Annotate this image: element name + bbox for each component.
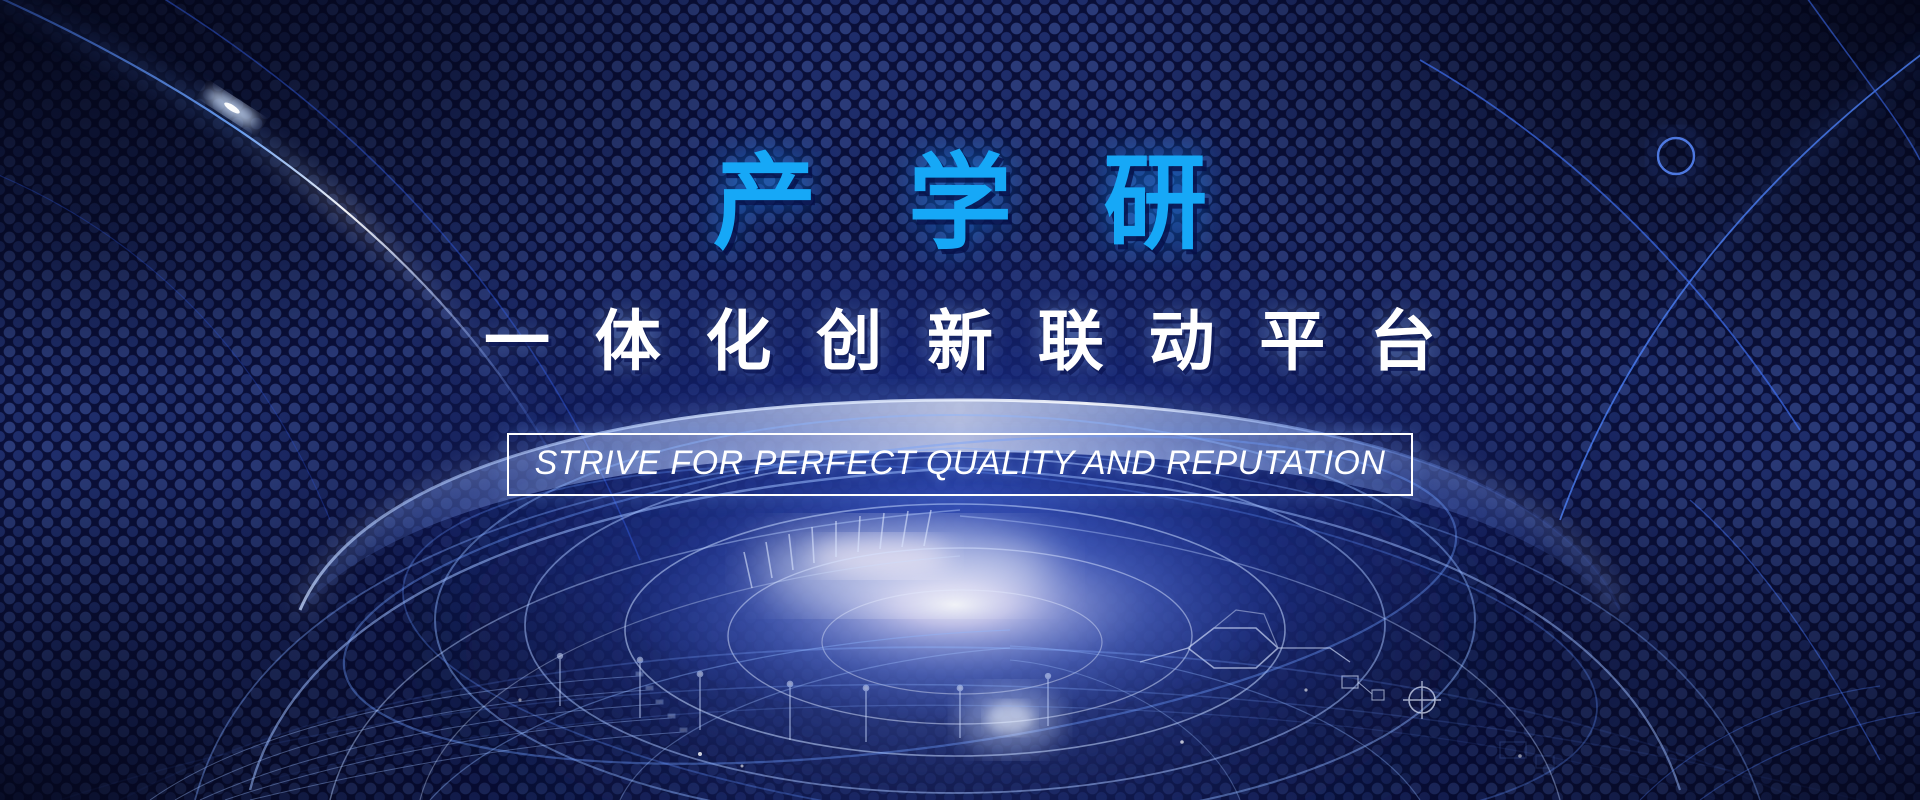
page-title: 产 学 研: [0, 148, 1920, 260]
tagline-text: STRIVE FOR PERFECT QUALITY AND REPUTATIO…: [535, 444, 1386, 483]
hero-banner: 产 学 研 一 体 化 创 新 联 动 平 台 STRIVE FOR PERFE…: [0, 0, 1920, 800]
page-subtitle: 一 体 化 创 新 联 动 平 台: [0, 305, 1920, 378]
tagline-box: STRIVE FOR PERFECT QUALITY AND REPUTATIO…: [507, 433, 1414, 496]
tagline-container: STRIVE FOR PERFECT QUALITY AND REPUTATIO…: [0, 433, 1920, 496]
banner-text-content: 产 学 研 一 体 化 创 新 联 动 平 台 STRIVE FOR PERFE…: [0, 0, 1920, 800]
